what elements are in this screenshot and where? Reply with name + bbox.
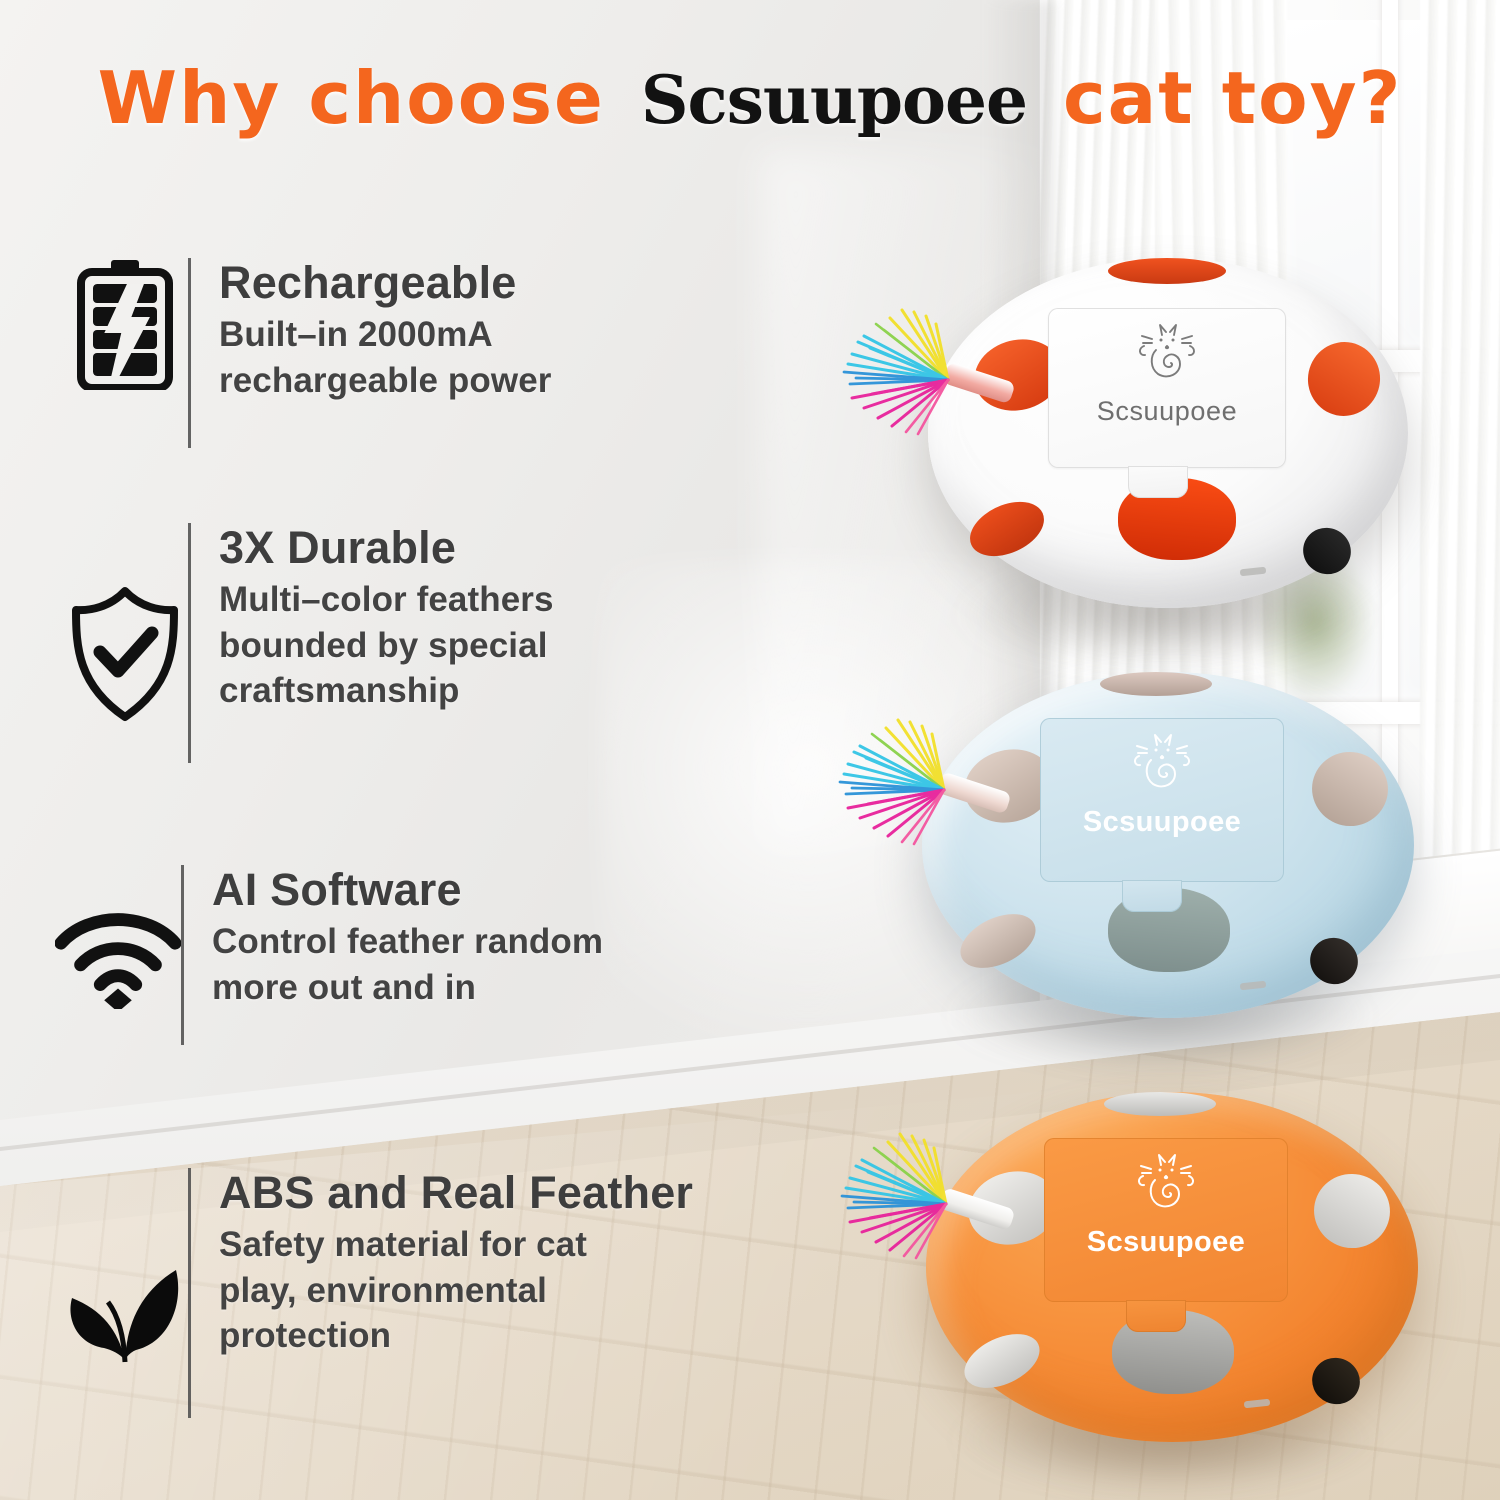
feature-desc-line: protection [219, 1313, 693, 1359]
product-top-port [1100, 672, 1212, 696]
feature-text-block: AI Software Control feather random more … [212, 865, 603, 1010]
feature-item-durable: 3X Durable Multi–color feathers bounded … [62, 523, 554, 773]
cat-spiral-logo-icon [1132, 322, 1202, 394]
product-brandmark: Scsuupoee [1040, 732, 1284, 839]
wifi-icon-glyph [55, 903, 181, 1009]
leaf-icon-glyph [64, 1246, 186, 1364]
shield-check-icon-glyph [66, 585, 184, 723]
feature-title: AI Software [212, 865, 603, 915]
rainbow-feather [826, 708, 976, 858]
feature-divider [188, 258, 191, 448]
cat-spiral-logo-icon [1131, 1152, 1201, 1224]
feature-divider [181, 865, 184, 1045]
product-brand-text: Scsuupoee [1048, 396, 1286, 427]
rainbow-feather [830, 298, 980, 448]
feature-description: Multi–color feathers bounded by special … [219, 577, 554, 714]
feature-text-block: 3X Durable Multi–color feathers bounded … [219, 523, 554, 714]
product-lid-tab [1128, 466, 1188, 498]
feature-desc-line: play, environmental [219, 1268, 693, 1314]
leaf-icon [62, 1168, 188, 1364]
headline-part-1: Why choose [98, 56, 605, 140]
feature-desc-line: Control feather random [212, 919, 603, 965]
feature-title: 3X Durable [219, 523, 554, 573]
wifi-icon [55, 865, 181, 1009]
feature-divider [188, 1168, 191, 1418]
feature-description: Built–in 2000mA rechargeable power [219, 312, 552, 403]
battery-charging-icon-glyph [73, 258, 177, 390]
product-lid-tab [1122, 880, 1182, 912]
feature-desc-line: Safety material for cat [219, 1222, 693, 1268]
feature-desc-line: craftsmanship [219, 668, 554, 714]
product-lid-tab [1126, 1300, 1186, 1332]
feature-item-rechargeable: Rechargeable Built–in 2000mA rechargeabl… [62, 258, 552, 458]
product-brand-text: Scsuupoee [1044, 1226, 1288, 1259]
feature-desc-line: Built–in 2000mA [219, 312, 552, 358]
feature-desc-line: bounded by special [219, 623, 554, 669]
product-brandmark: Scsuupoee [1048, 322, 1286, 427]
product-top-port [1108, 258, 1226, 284]
product-brand-text: Scsuupoee [1040, 806, 1284, 839]
shield-check-icon [62, 523, 188, 723]
cat-spiral-logo-icon [1127, 732, 1197, 804]
feature-item-abs-real-feather: ABS and Real Feather Safety material for… [62, 1168, 693, 1418]
product-brandmark: Scsuupoee [1044, 1152, 1288, 1259]
feature-desc-line: Multi–color feathers [219, 577, 554, 623]
feature-description: Safety material for cat play, environmen… [219, 1222, 693, 1359]
feature-divider [188, 523, 191, 763]
headline-brand-name: Scsuupoee [641, 61, 1027, 139]
battery-charging-icon [62, 258, 188, 390]
product-top-port [1104, 1092, 1216, 1116]
feature-text-block: ABS and Real Feather Safety material for… [219, 1168, 693, 1359]
headline-part-2: cat toy? [1063, 56, 1402, 140]
feature-desc-line: more out and in [212, 965, 603, 1011]
page-title: Why choose Scsuupoee cat toy? [0, 62, 1500, 134]
feature-desc-line: rechargeable power [219, 358, 552, 404]
feature-text-block: Rechargeable Built–in 2000mA rechargeabl… [219, 258, 552, 403]
rainbow-feather [828, 1122, 978, 1272]
feature-item-ai-software: AI Software Control feather random more … [55, 865, 603, 1055]
feature-title: Rechargeable [219, 258, 552, 308]
feature-title: ABS and Real Feather [219, 1168, 693, 1218]
feature-description: Control feather random more out and in [212, 919, 603, 1010]
